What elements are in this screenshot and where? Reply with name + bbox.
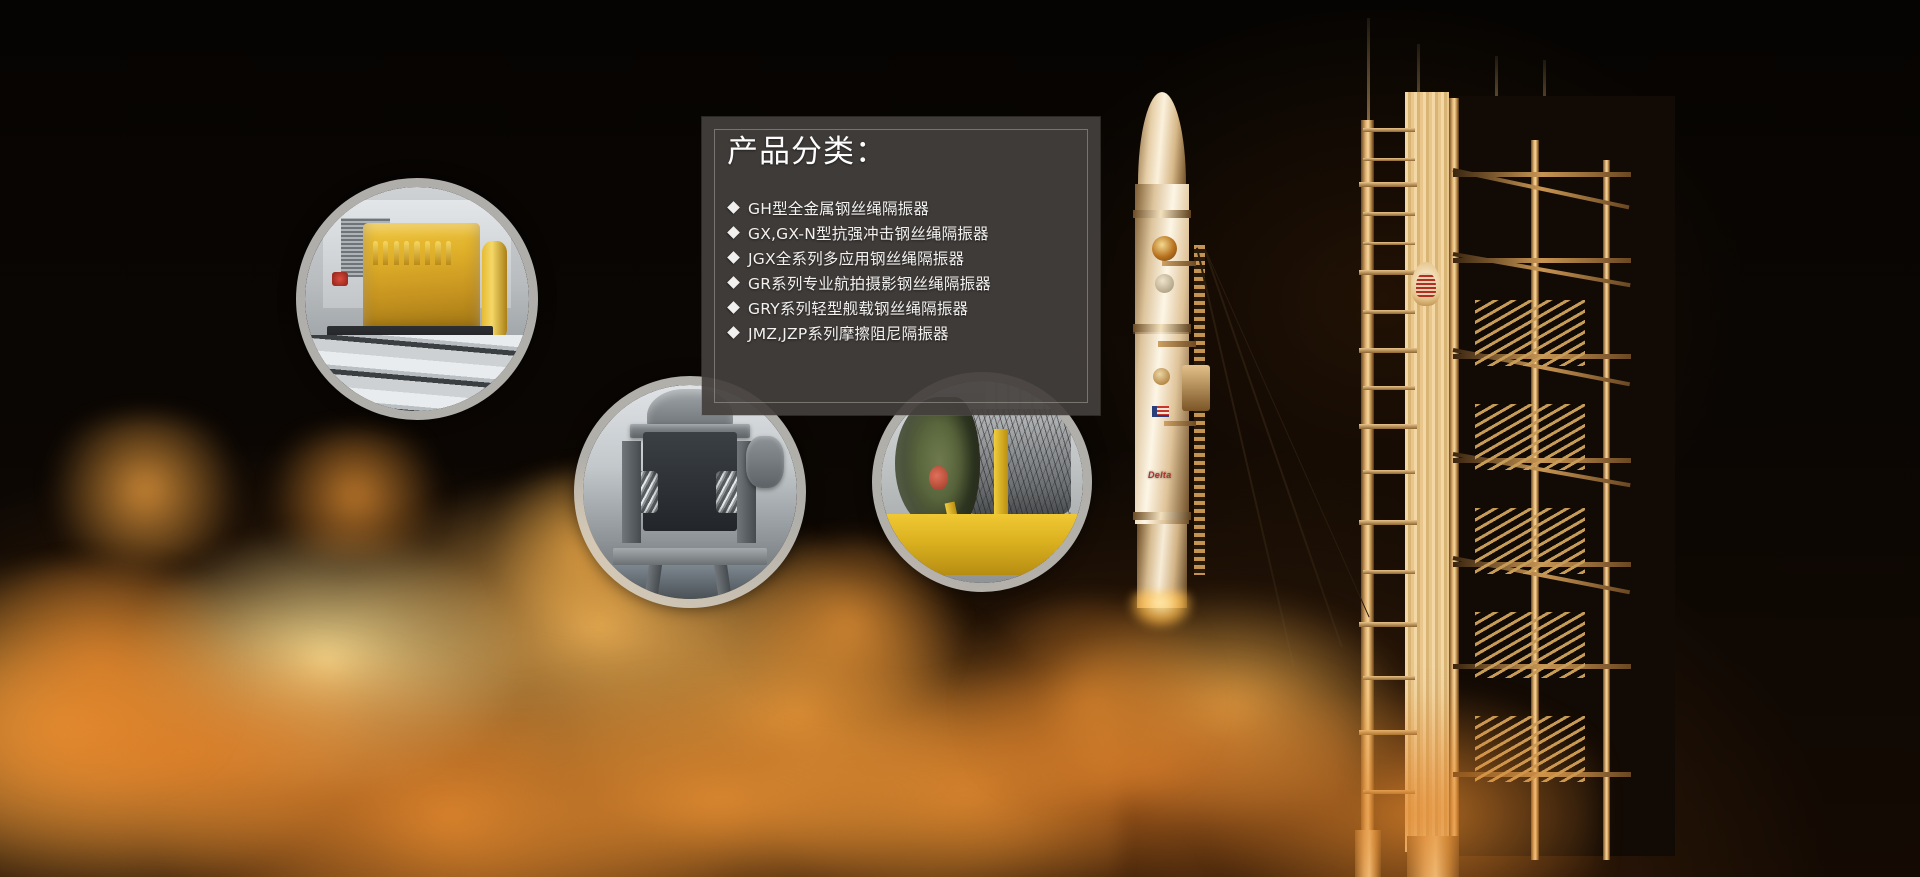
list-item[interactable]: JMZ,JZP系列摩擦阻尼隔振器 [729,320,1084,345]
diamond-bullet-icon [727,226,740,239]
plume-puff-a [30,415,260,565]
diesel-generator-photo[interactable] [296,178,538,420]
list-item[interactable]: GRY系列轻型舰载钢丝绳隔振器 [729,295,1084,320]
category-label: GR系列专业航拍摄影钢丝绳隔振器 [748,272,991,294]
diamond-bullet-icon [727,251,740,264]
category-list: GH型全金属钢丝绳隔振器 GX,GX-N型抗强冲击钢丝绳隔振器 JGX全系列多应… [729,195,1084,345]
diamond-bullet-icon [727,301,740,314]
category-label: JMZ,JZP系列摩擦阻尼隔振器 [748,322,949,344]
product-category-panel: 产品分类： GH型全金属钢丝绳隔振器 GX,GX-N型抗强冲击钢丝绳隔振器 JG… [702,117,1100,415]
tower-emblem-icon [1411,262,1441,306]
panel-title: 产品分类： [727,135,887,171]
diamond-bullet-icon [727,276,740,289]
list-item[interactable]: GX,GX-N型抗强冲击钢丝绳隔振器 [729,220,1084,245]
list-item[interactable]: GR系列专业航拍摄影钢丝绳隔振器 [729,270,1084,295]
list-item[interactable]: JGX全系列多应用钢丝绳隔振器 [729,245,1084,270]
plume-puff-e [940,600,1240,800]
list-item[interactable]: GH型全金属钢丝绳隔振器 [729,195,1084,220]
diamond-bullet-icon [727,201,740,214]
category-label: GH型全金属钢丝绳隔振器 [748,197,929,219]
category-label: GX,GX-N型抗强冲击钢丝绳隔振器 [748,222,989,244]
category-label: JGX全系列多应用钢丝绳隔振器 [748,247,964,269]
plume-puff-b [250,430,460,560]
banner-stage: Delta [0,0,1920,877]
category-label: GRY系列轻型舰载钢丝绳隔振器 [748,297,968,319]
rocket-brand-label: Delta [1148,470,1172,480]
diamond-bullet-icon [727,326,740,339]
